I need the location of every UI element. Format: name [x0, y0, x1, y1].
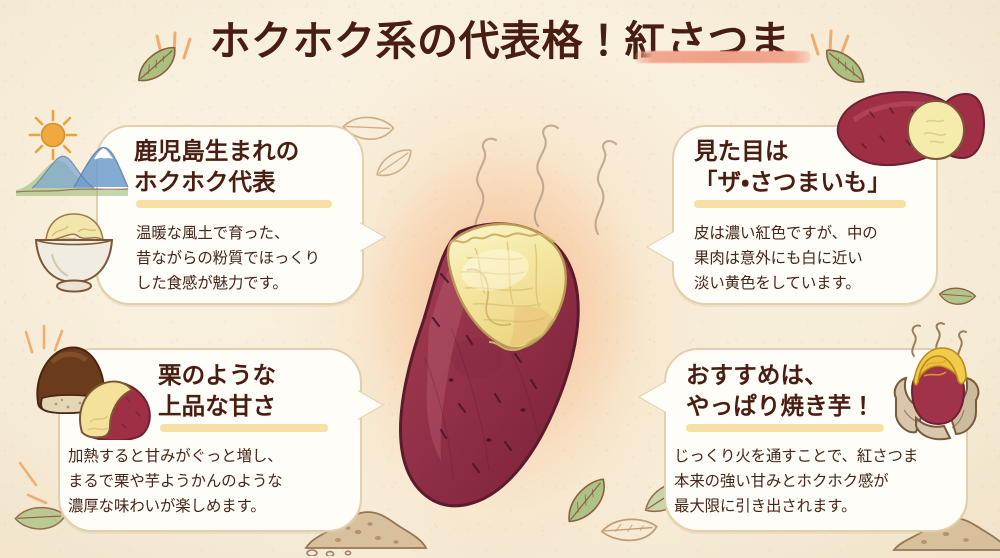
callout-recommendation-body: じっくり火を通すことで、紅さつま 本来の強い甘みとホクホク感が 最大限に引き出さ…	[674, 444, 966, 519]
center-sweet-potato-illustration	[355, 208, 655, 528]
callout-recommendation-heading: おすすめは、 やっぱり焼き芋！	[686, 360, 926, 421]
title-area: ホクホク系の代表格！紅さつま	[0, 18, 1000, 65]
callout-appearance-heading: 見た目は 「ザ・さつまいも」	[694, 136, 934, 197]
callout-appearance-tail	[648, 232, 674, 262]
callout-sweetness-underline	[160, 424, 328, 432]
page-title: ホクホク系の代表格！紅さつま	[210, 18, 791, 65]
callout-origin-tail	[358, 222, 384, 252]
callout-appearance-body: 皮は濃い紅色ですが、中の 果肉は意外にも白に近い 淡い黄色をしています。	[694, 221, 926, 296]
title-highlight-marker	[635, 51, 811, 63]
callout-appearance-underline	[694, 200, 906, 208]
callout-origin-body: 温暖な風土で育った、 昔ながらの粉質でほっくり した食感が魅力です。	[136, 221, 358, 296]
callout-recommendation-underline	[686, 424, 884, 432]
callout-origin-underline	[136, 200, 332, 208]
callout-sweetness-heading: 栗のような 上品な甘さ	[158, 360, 368, 421]
callout-origin-heading: 鹿児島生まれの ホクホク代表	[134, 136, 364, 197]
callout-sweetness-body: 加熱すると甘みがぐっと増し、 まるで栗や芋ようかんのような 濃厚な味わいが楽しめ…	[68, 444, 358, 519]
infographic-poster: ホクホク系の代表格！紅さつま	[0, 0, 1000, 558]
callout-recommendation-tail	[640, 382, 666, 412]
